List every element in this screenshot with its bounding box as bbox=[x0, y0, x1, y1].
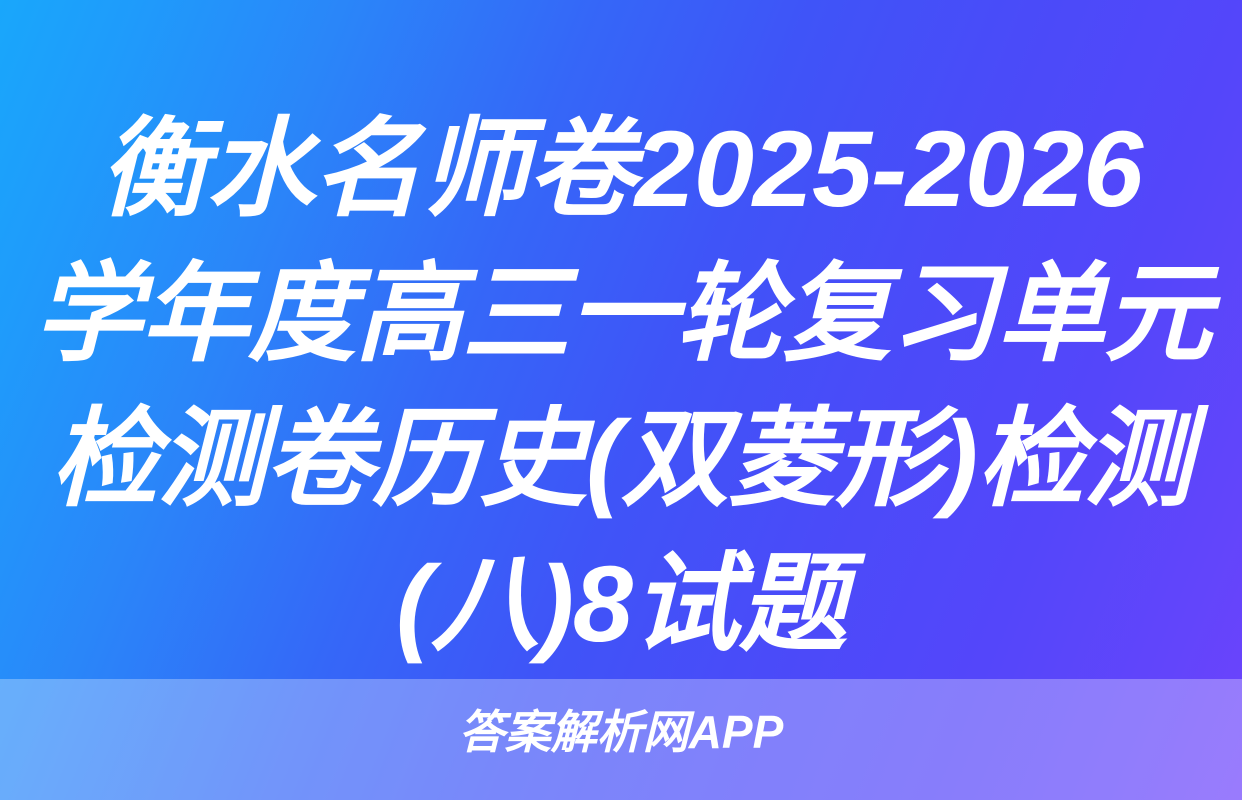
watermark-app-name: 答案解析网APP bbox=[0, 703, 1242, 761]
title-line-3: 检测卷历史(双菱形)检测 bbox=[34, 386, 1208, 531]
title-line-2: 学年度高三一轮复习单元 bbox=[34, 241, 1208, 386]
title-line-1: 衡水名师卷2025-2026 bbox=[34, 96, 1208, 241]
title-line-4: (八)8试题 bbox=[34, 531, 1208, 676]
poster-canvas: 衡水名师卷2025-2026 学年度高三一轮复习单元 检测卷历史(双菱形)检测 … bbox=[0, 0, 1242, 800]
page-title: 衡水名师卷2025-2026 学年度高三一轮复习单元 检测卷历史(双菱形)检测 … bbox=[0, 96, 1242, 676]
